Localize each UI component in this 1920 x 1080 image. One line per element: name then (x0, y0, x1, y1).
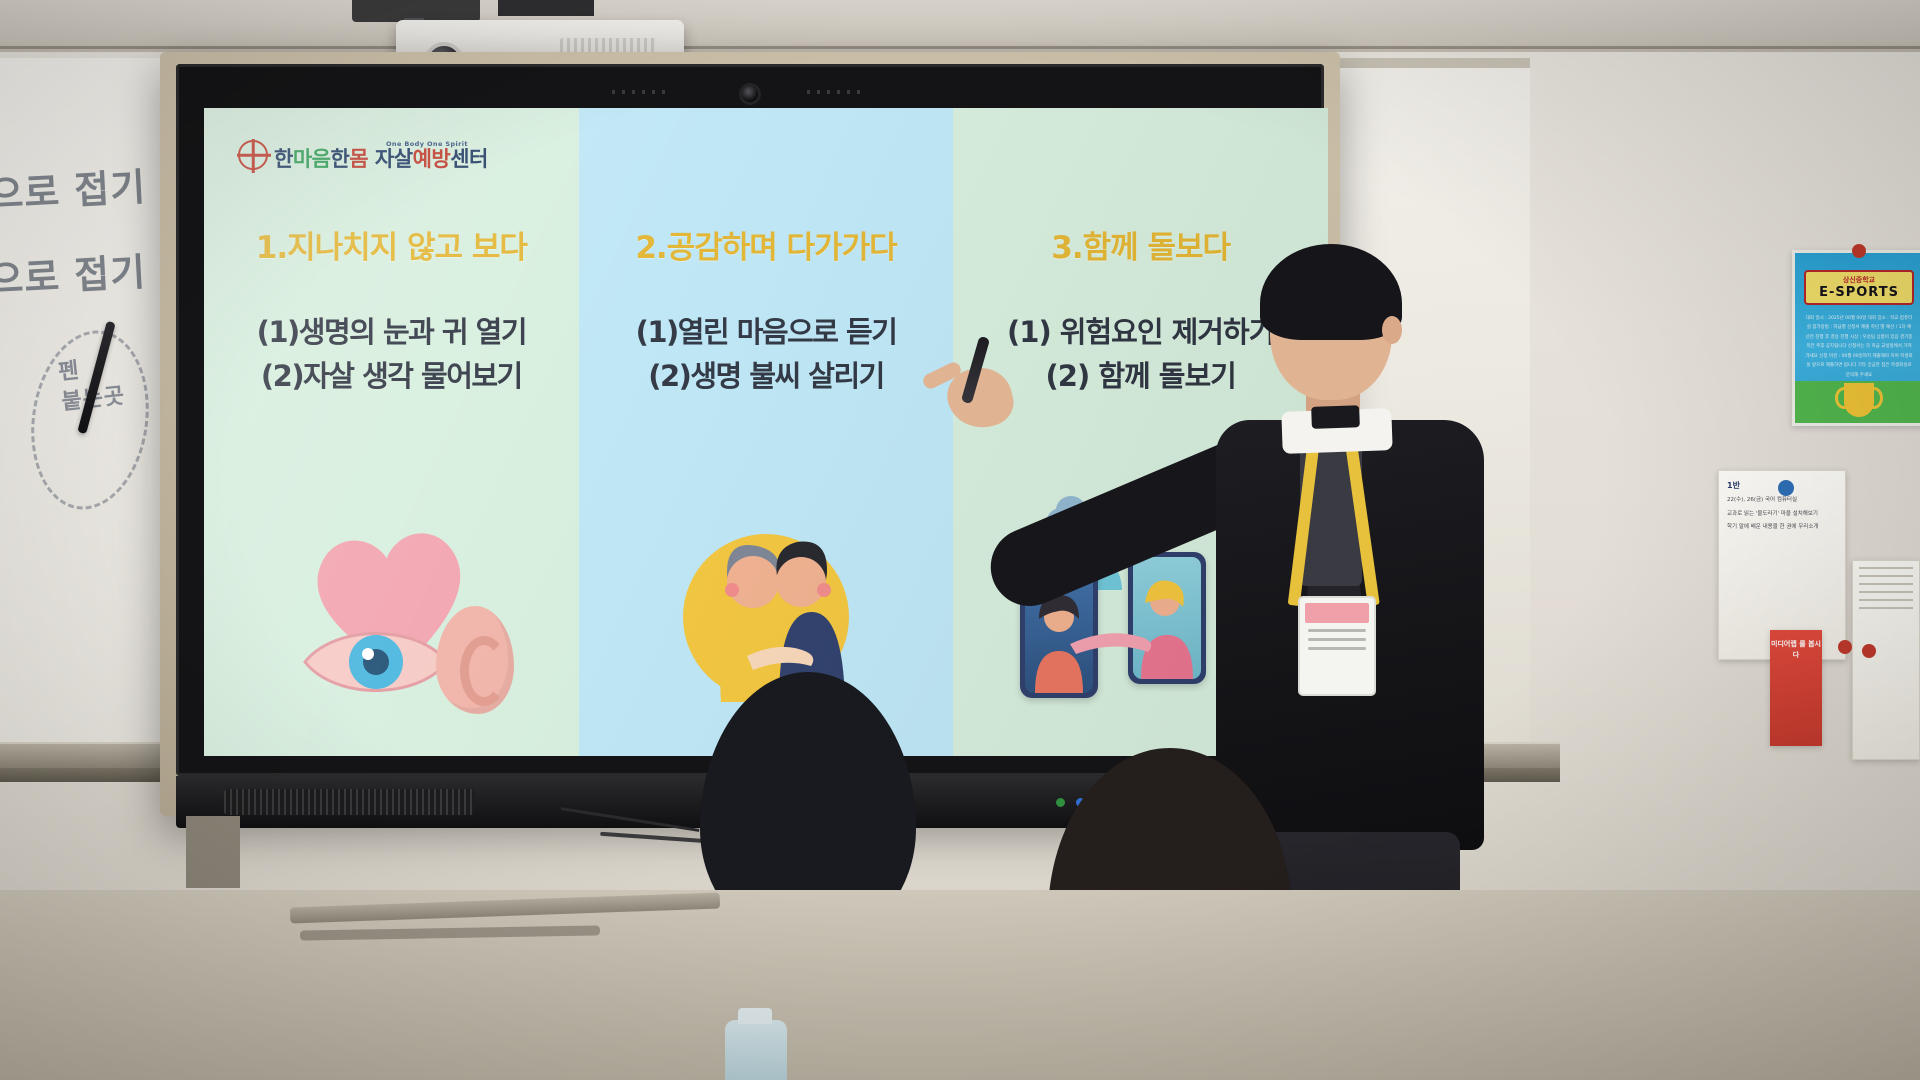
ear-icon (436, 606, 514, 714)
presenter-hair (1260, 244, 1402, 340)
logo-english: One Body One Spirit (386, 140, 468, 148)
id-badge (1298, 596, 1376, 696)
pushpin-icon (1852, 244, 1866, 258)
column-2-item-1: (1)열린 마음으로 듣기 (589, 311, 944, 355)
display-bezel: One Body One Spirit 한마음한몸 자살예방센터 1.지나치지 … (176, 64, 1324, 776)
whiteboard-line-2: 으로 접기 (0, 241, 147, 304)
presenter-ear (1382, 316, 1402, 344)
speaker-grille-left (224, 789, 474, 815)
poster-notice-line-2: 교과로 읽는 '물도라기' 마을 설치해보기 (1727, 510, 1837, 520)
ceiling-seam (0, 46, 1920, 49)
two-people-hug-icon (661, 506, 871, 706)
slide-column-1: One Body One Spirit 한마음한몸 자살예방센터 1.지나치지 … (204, 108, 579, 756)
camera-icon (742, 86, 758, 102)
badge-line (1308, 629, 1366, 632)
column-2-item-2: (2)생명 불씨 살리기 (589, 355, 944, 399)
cross-circle-icon (238, 140, 268, 170)
trophy-icon (1844, 383, 1874, 417)
poster-document[interactable] (1852, 560, 1920, 760)
badge-line (1308, 638, 1366, 641)
logo-korean: 한마음한몸 자살예방센터 (274, 149, 488, 170)
poster-esports-header: 상신중학교 E-SPORTS (1804, 270, 1914, 305)
poster-red-sign-text: 미디어랩 를 봅시다 (1770, 639, 1822, 661)
column-1-title: 1.지나치지 않고 보다 (214, 222, 569, 267)
red-sticker-icon (1838, 640, 1852, 654)
ir-sensor-right-icon (807, 90, 863, 94)
lower-wall (0, 890, 1920, 1080)
power-led-icon (1056, 798, 1065, 807)
column-2-items: (1)열린 마음으로 듣기 (2)생명 불씨 살리기 (589, 311, 944, 398)
doc-line (1859, 599, 1913, 601)
doc-line (1859, 583, 1913, 585)
badge-line (1308, 647, 1366, 650)
doc-line (1859, 591, 1913, 593)
column-1-items: (1)생명의 눈과 귀 열기 (2)자살 생각 물어보기 (214, 311, 569, 398)
clerical-collar (1281, 408, 1392, 454)
center-logo: One Body One Spirit 한마음한몸 자살예방센터 (238, 140, 488, 170)
water-bottle[interactable] (725, 1020, 787, 1080)
poster-esports-body: 대회 일시 : 2025년 00월 00일 대회 장소 : 학교 컴퓨터실 참가… (1805, 314, 1913, 380)
poster-esports[interactable]: 상신중학교 E-SPORTS 대회 일시 : 2025년 00월 00일 대회 … (1792, 250, 1920, 426)
column-1-item-1: (1)생명의 눈과 귀 열기 (214, 311, 569, 355)
column-2-title: 2.공감하며 다가가다 (589, 222, 944, 267)
column-1-illustration (204, 502, 579, 722)
bottle-cap (738, 1008, 772, 1024)
projector-cable (498, 0, 594, 16)
doc-line (1859, 567, 1913, 569)
ir-sensor-left-icon (612, 90, 668, 94)
poster-notice-line-1: 22(수), 26(금) 국어 컴퓨터실 (1727, 496, 1837, 506)
whiteboard-line-1: 으로 접기 (0, 156, 147, 219)
red-sticker-icon (1862, 644, 1876, 658)
doc-line (1859, 575, 1913, 577)
doc-line (1859, 607, 1913, 609)
blue-sticker-icon (1778, 480, 1794, 496)
display-stand-left (186, 816, 240, 888)
column-1-item-2: (2)자살 생각 물어보기 (214, 355, 569, 399)
ceiling (0, 0, 1920, 60)
poster-notice-line-3: 학기 말에 배운 내용을 한 권에 우리소개 (1727, 523, 1837, 533)
badge-photo (1305, 603, 1369, 623)
slide-column-2: 2.공감하며 다가가다 (1)열린 마음으로 듣기 (2)생명 불씨 살리기 (579, 108, 954, 756)
classroom-scene: 으로 접기 으로 접기 펜붙는곳 One Body One Spirit 한 (0, 0, 1920, 1080)
poster-esports-school: 상신중학교 (1806, 275, 1912, 285)
poster-esports-name: E-SPORTS (1806, 285, 1912, 300)
eye-icon (301, 618, 451, 704)
poster-red-sign[interactable]: 미디어랩 를 봅시다 (1770, 630, 1822, 746)
